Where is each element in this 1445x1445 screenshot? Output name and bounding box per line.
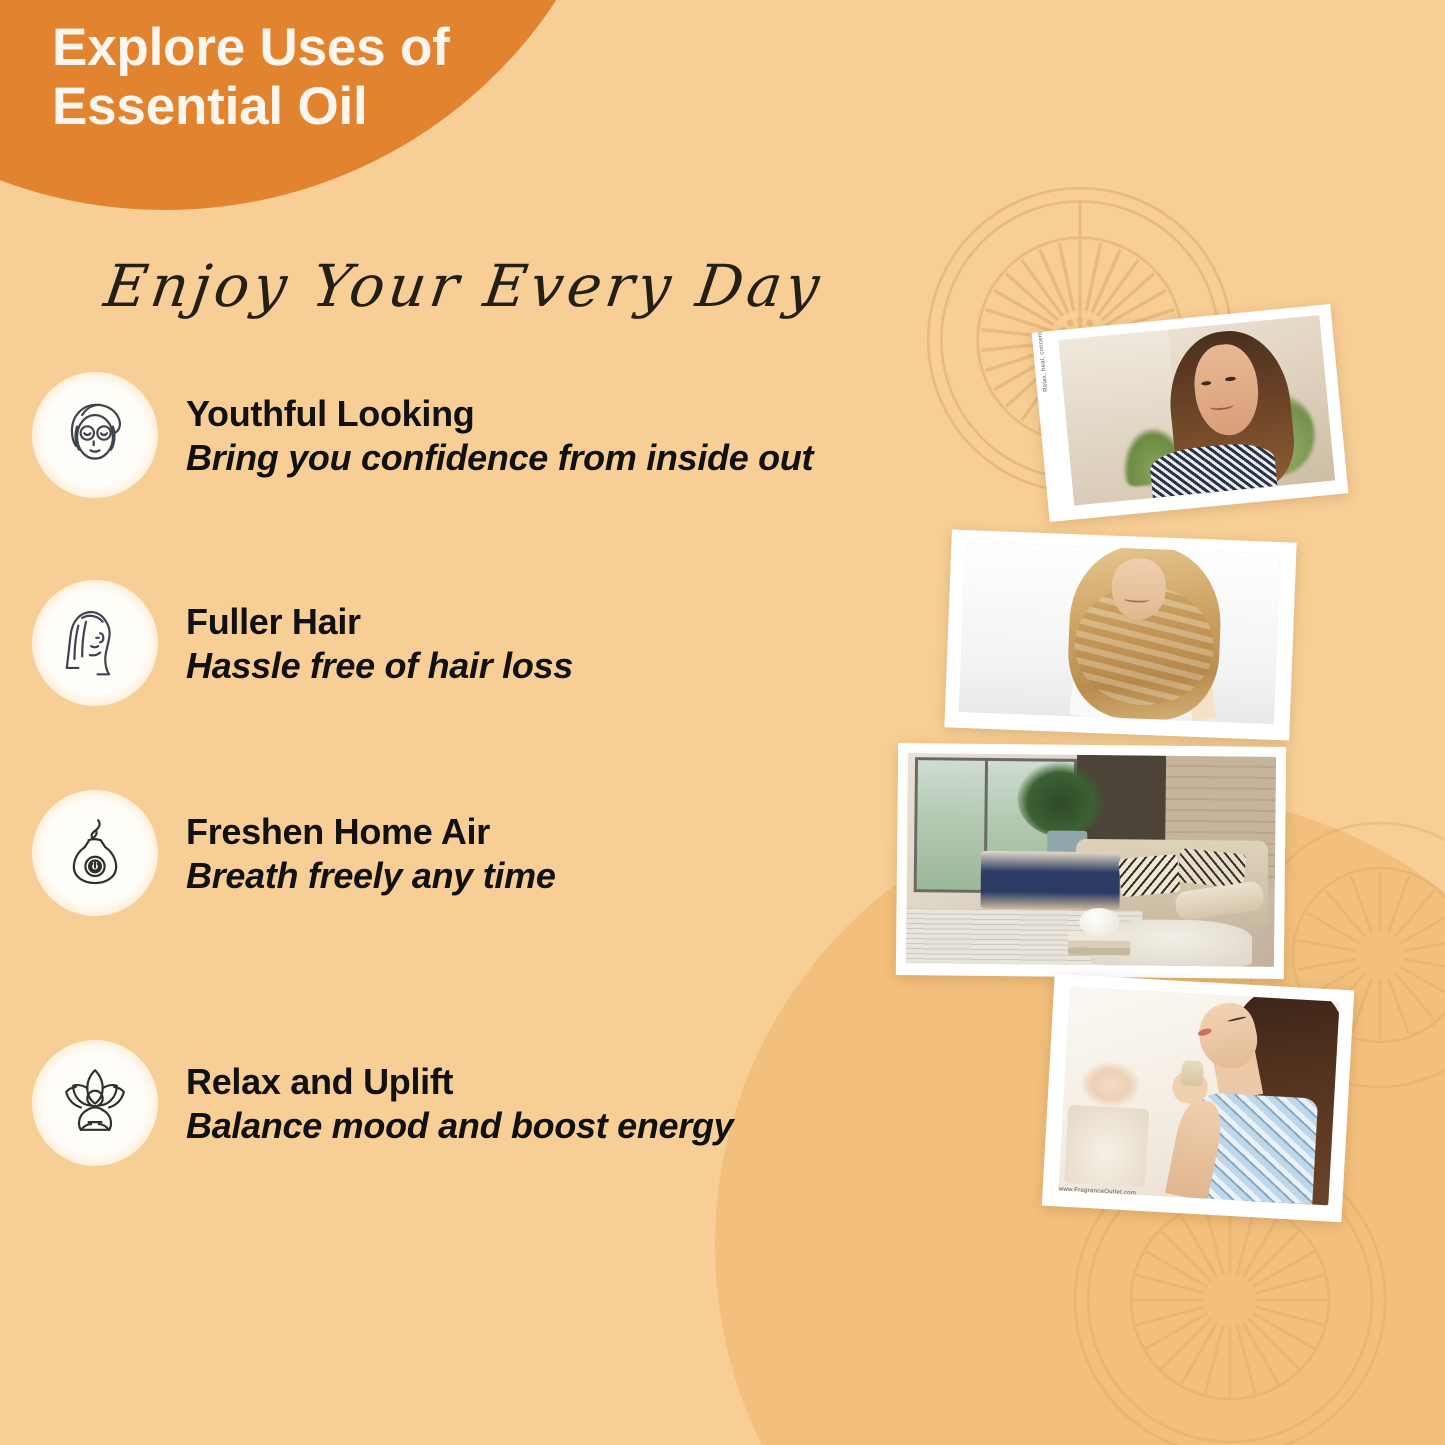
feature-text-block: Relax and Uplift Balance mood and boost … (186, 1059, 733, 1148)
photo-boho-living-room-diffuser (896, 743, 1286, 979)
aroma-diffuser-icon (54, 810, 136, 897)
feature-icon-badge (32, 790, 158, 916)
feature-title: Freshen Home Air (186, 811, 556, 853)
photo-image-area (959, 542, 1280, 724)
feature-text-block: Fuller Hair Hassle free of hair loss (186, 599, 573, 688)
feature-item-relax-and-uplift: Relax and Uplift Balance mood and boost … (32, 1040, 733, 1166)
photo-image-area (1058, 315, 1335, 505)
facial-mask-icon (54, 392, 136, 479)
feature-icon-badge (32, 580, 158, 706)
photo-scene (1059, 987, 1340, 1206)
tagline: Enjoy Your Every Day (100, 252, 827, 320)
photo-woman-long-wavy-hair (944, 529, 1296, 740)
feature-subtitle: Hassle free of hair loss (186, 645, 573, 687)
photo-scene (959, 542, 1280, 724)
infographic-canvas: Explore Uses of Essential Oil Enjoy Your… (0, 0, 1445, 1445)
feature-text-block: Freshen Home Air Breath freely any time (186, 809, 556, 898)
feature-item-fuller-hair: Fuller Hair Hassle free of hair loss (32, 580, 573, 706)
feature-subtitle: Breath freely any time (186, 855, 556, 897)
photo-scene (906, 753, 1276, 967)
feature-item-youthful-looking: Youthful Looking Bring you confidence fr… (32, 372, 813, 498)
feature-item-freshen-home-air: Freshen Home Air Breath freely any time (32, 790, 556, 916)
feature-title: Fuller Hair (186, 601, 573, 643)
feature-text-block: Youthful Looking Bring you confidence fr… (186, 391, 813, 480)
photo-scene (1058, 315, 1335, 505)
feature-title: Relax and Uplift (186, 1061, 733, 1103)
feature-icon-badge (32, 372, 158, 498)
photo-image-area (1059, 987, 1340, 1206)
feature-subtitle: Balance mood and boost energy (186, 1105, 733, 1147)
feature-subtitle: Bring you confidence from inside out (186, 437, 813, 479)
photo-woman-applying-perfume: www.FragranceOutlet.com (1042, 974, 1354, 1222)
photo-smiling-woman-indoors: Relax, heal, concentrate (1032, 304, 1349, 522)
page-title: Explore Uses of Essential Oil (52, 18, 612, 137)
feature-title: Youthful Looking (186, 393, 813, 435)
lotus-meditation-icon (54, 1060, 136, 1147)
feature-icon-badge (32, 1040, 158, 1166)
photo-image-area (906, 753, 1276, 967)
long-hair-profile-icon (54, 600, 136, 687)
